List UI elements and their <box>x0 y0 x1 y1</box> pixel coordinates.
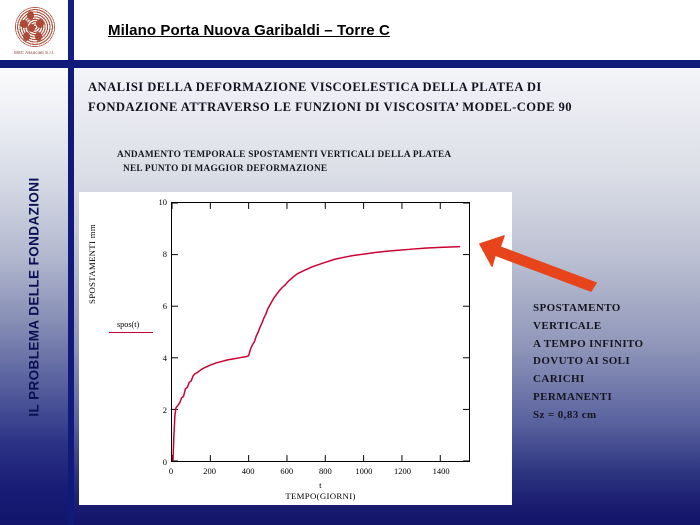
x-axis-symbol: t <box>171 480 470 491</box>
right-annotation-block: SPOSTAMENTO VERTICALE A TEMPO INFINITO D… <box>533 300 693 425</box>
plot-area <box>171 202 470 462</box>
sidebar-section-banner: IL PROBLEMA DELLE FONDAZIONI <box>0 68 68 525</box>
plot-svg <box>172 203 469 461</box>
x-tick-label: 400 <box>242 466 255 476</box>
right-note-line-4: DOVUTO AI SOLI <box>533 353 693 371</box>
y-tick-label: 8 <box>163 249 167 259</box>
logo-caption: MSC Associati S.r.l. <box>14 50 55 55</box>
y-axis-ticks: 0246810 <box>141 202 167 462</box>
y-axis-label: SPOSTAMENTI mm <box>87 224 97 304</box>
x-tick-label: 800 <box>319 466 332 476</box>
company-logo: MSC Associati S.r.l. <box>0 0 69 60</box>
subtitle-block: ANALISI DELLA DEFORMAZIONE VISCOELESTICA… <box>88 78 688 117</box>
chart-caption-line-2: NEL PUNTO DI MAGGIOR DEFORMAZIONE <box>117 163 577 177</box>
circular-target-logo-icon <box>14 6 56 48</box>
x-tick-label: 200 <box>203 466 216 476</box>
chart-caption-block: ANDAMENTO TEMPORALE SPOSTAMENTI VERTICAL… <box>117 149 577 177</box>
chart-caption-line-1: ANDAMENTO TEMPORALE SPOSTAMENTI VERTICAL… <box>117 149 577 163</box>
right-note-line-2: VERTICALE <box>533 318 693 336</box>
header-band: MSC Associati S.r.l. Milano Porta Nuova … <box>0 0 700 60</box>
subtitle-line-1: ANALISI DELLA DEFORMAZIONE VISCOELESTICA… <box>88 78 688 98</box>
right-note-value: Sz = 0,83 cm <box>533 407 693 425</box>
y-tick-label: 10 <box>159 197 168 207</box>
y-tick-label: 0 <box>163 457 167 467</box>
right-note-line-6: PERMANENTI <box>533 389 693 407</box>
vertical-divider <box>68 0 74 525</box>
subtitle-line-2: FONDAZIONE ATTRAVERSO LE FUNZIONI DI VIS… <box>88 98 688 118</box>
horizontal-divider <box>0 60 700 68</box>
vertical-divider-top <box>68 0 74 60</box>
y-tick-label: 2 <box>163 405 167 415</box>
x-axis-title: TEMPO(GIORNI) <box>171 491 470 502</box>
x-axis-ticks: 0200400600800100012001400 <box>171 466 470 480</box>
y-tick-label: 4 <box>163 353 167 363</box>
x-tick-label: 0 <box>169 466 173 476</box>
x-tick-label: 1400 <box>433 466 450 476</box>
y-tick-label: 6 <box>163 301 167 311</box>
title-container: Milano Porta Nuova Garibaldi – Torre C <box>80 0 700 60</box>
x-tick-label: 600 <box>280 466 293 476</box>
right-note-line-3: A TEMPO INFINITO <box>533 336 693 354</box>
page-title: Milano Porta Nuova Garibaldi – Torre C <box>108 22 390 39</box>
x-tick-label: 1200 <box>394 466 411 476</box>
chart-panel: SPOSTAMENTI mm spos(t) 0246810 020040060… <box>79 192 512 505</box>
slide-canvas: MSC Associati S.r.l. Milano Porta Nuova … <box>0 0 700 525</box>
right-note-line-1: SPOSTAMENTO <box>533 300 693 318</box>
x-tick-label: 1000 <box>355 466 372 476</box>
arrow-pointing-up-left-icon <box>478 230 600 292</box>
data-series-spos <box>173 247 459 461</box>
axis-tick-marks <box>172 203 469 461</box>
sidebar-item-label: IL PROBLEMA DELLE FONDAZIONI <box>27 177 42 416</box>
right-note-line-5: CARICHI <box>533 371 693 389</box>
x-axis-label: t TEMPO(GIORNI) <box>171 480 470 502</box>
